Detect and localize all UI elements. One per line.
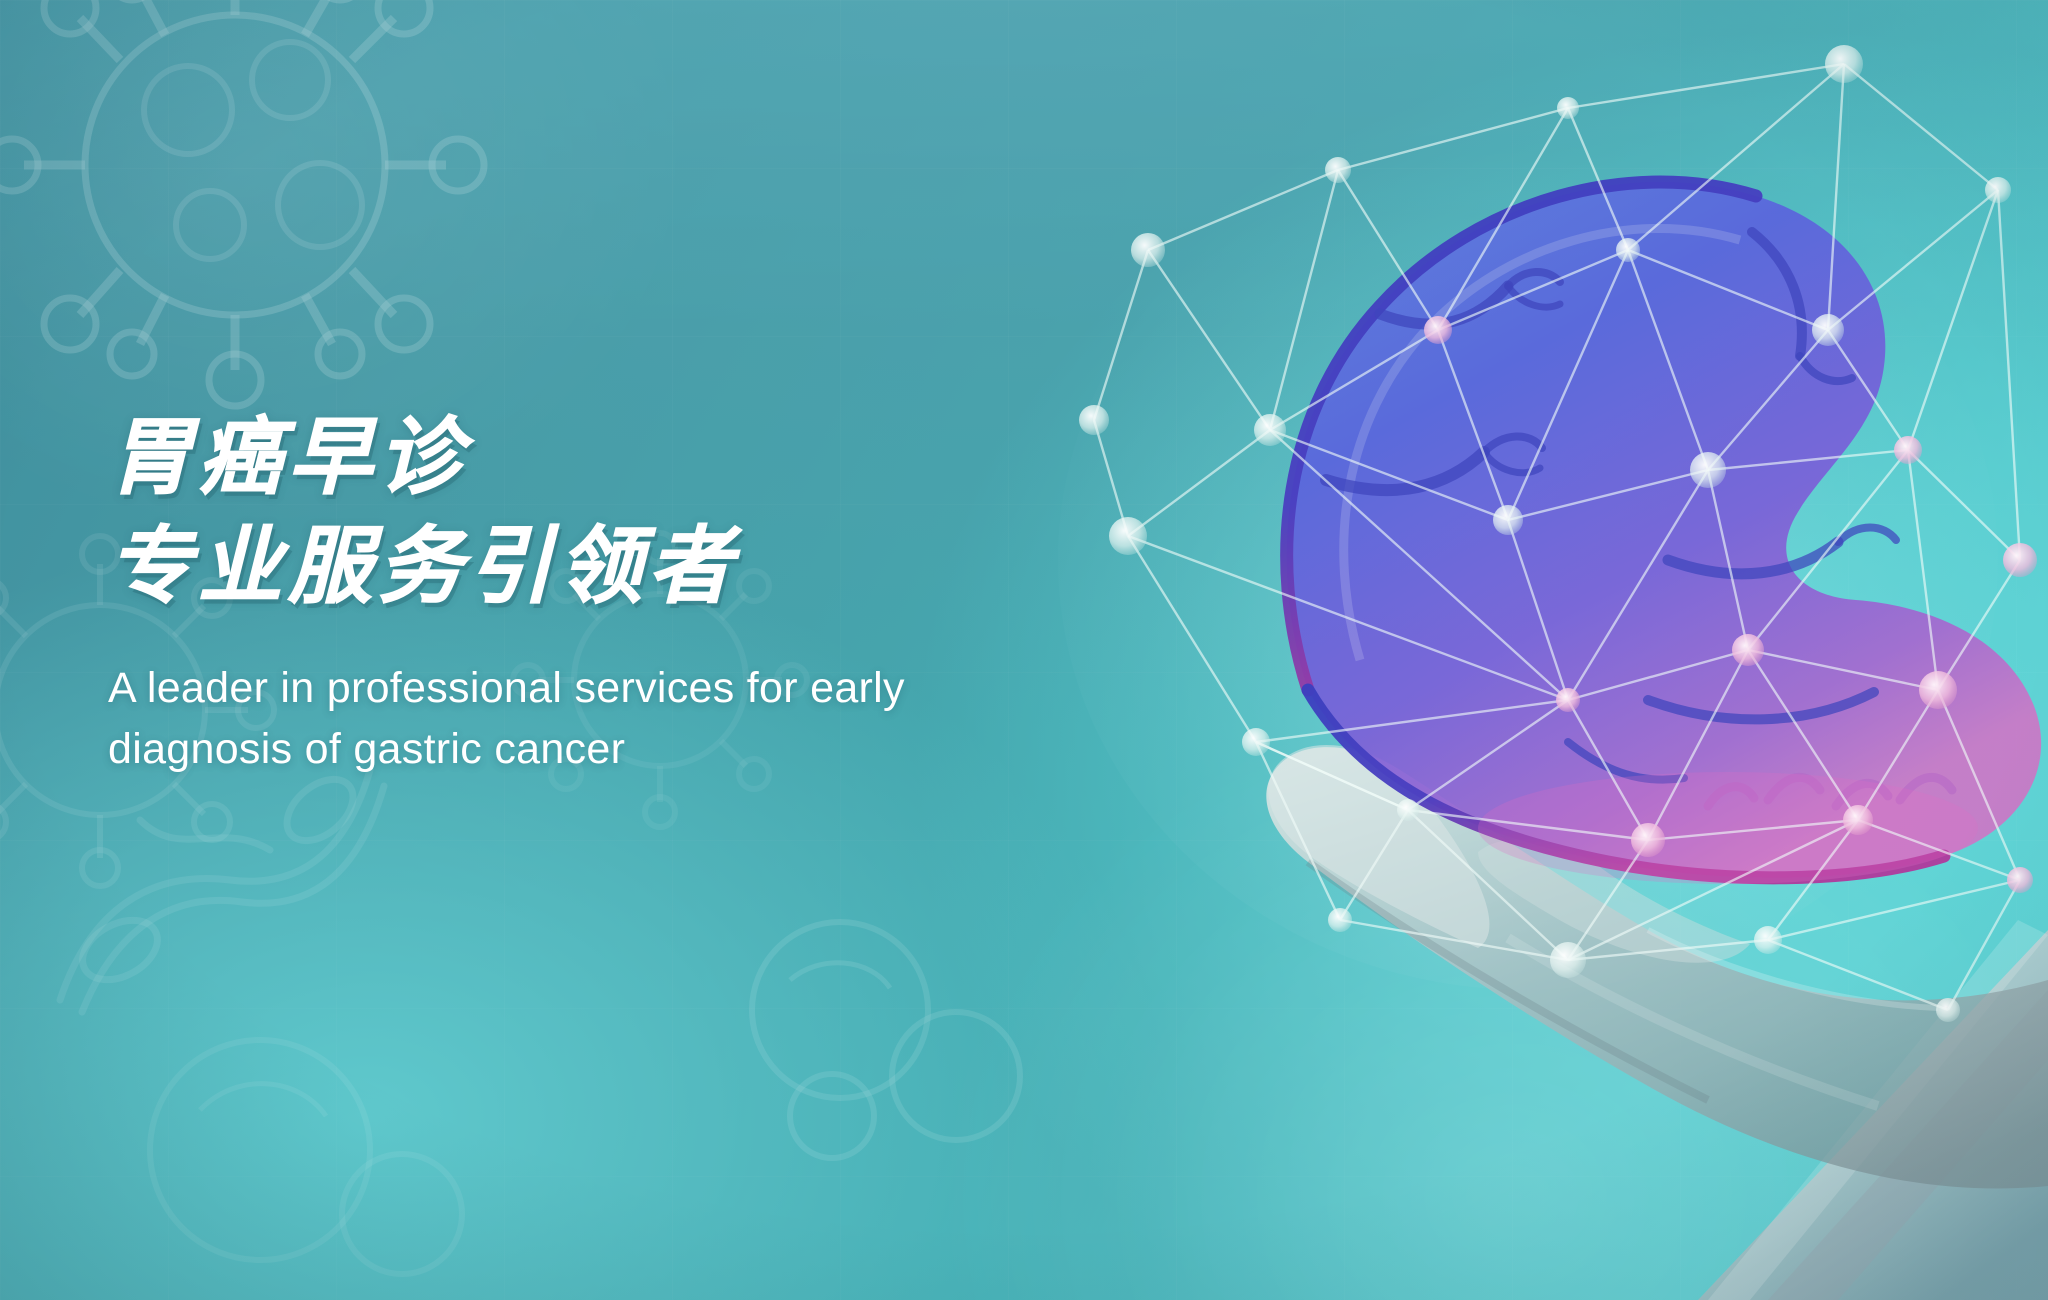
background-vignette xyxy=(0,0,2048,1300)
hero-banner: 胃癌早诊 专业服务引领者 A leader in professional se… xyxy=(0,0,2048,1300)
